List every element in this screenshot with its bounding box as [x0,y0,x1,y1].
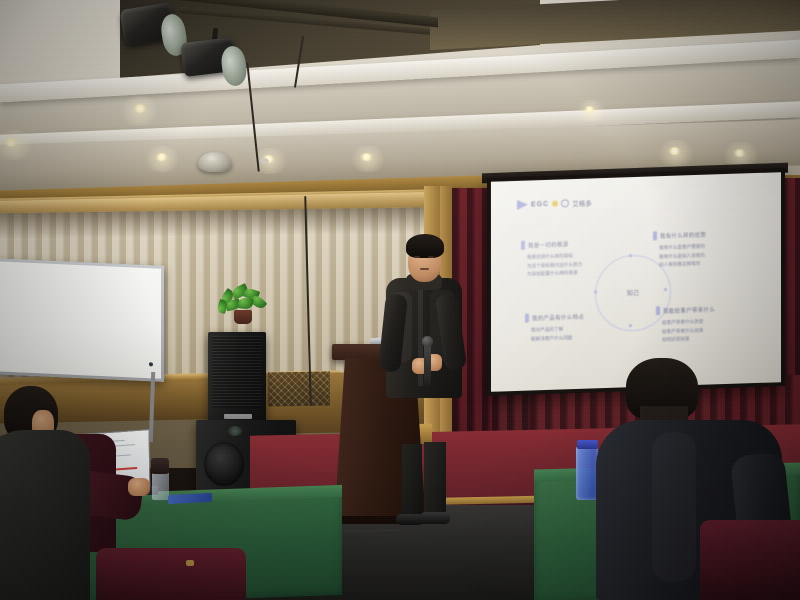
recessed-downlight-6 [668,147,681,155]
presenter-leg-right [424,442,446,522]
audience-right-back-fold [652,432,696,582]
audience-left-hand [128,478,150,496]
presenter-leg-left [402,444,422,522]
blue-water-bottle [576,446,598,500]
recessed-downlight-1 [133,104,147,113]
presenter-mouth [420,268,429,270]
presenter [382,232,466,522]
dome-ceiling-speaker [198,152,232,172]
chair-stud [186,560,194,566]
satellite-speaker [208,332,266,424]
whiteboard-surface [0,261,161,379]
recessed-downlight-8 [584,106,595,113]
auditorium-chair-right [700,520,800,600]
lattice-panel [268,371,330,406]
recessed-downlight-5 [360,153,373,161]
microphone [424,342,431,386]
recessed-downlight-7 [733,149,746,157]
whiteboard [0,258,164,382]
audience-left-second [0,430,90,600]
presenter-shoe-right [420,512,450,524]
recessed-downlight-2 [4,138,18,147]
recessed-downlight-3 [155,153,168,161]
presenter-eye-right [428,256,434,258]
presenter-shoe-left [396,514,424,525]
presenter-eye-left [414,256,420,258]
potted-plant [214,286,270,326]
whiteboard-magnet [149,362,153,366]
presentation-room-photo: EGC 艾格多 知己 我是一切的根源 [0,0,800,600]
bottle-cap [577,440,598,449]
sprinkler-head [260,158,269,164]
presenter-hair [406,234,444,258]
microphone-head [422,336,433,347]
auditorium-chair-left [96,548,246,600]
